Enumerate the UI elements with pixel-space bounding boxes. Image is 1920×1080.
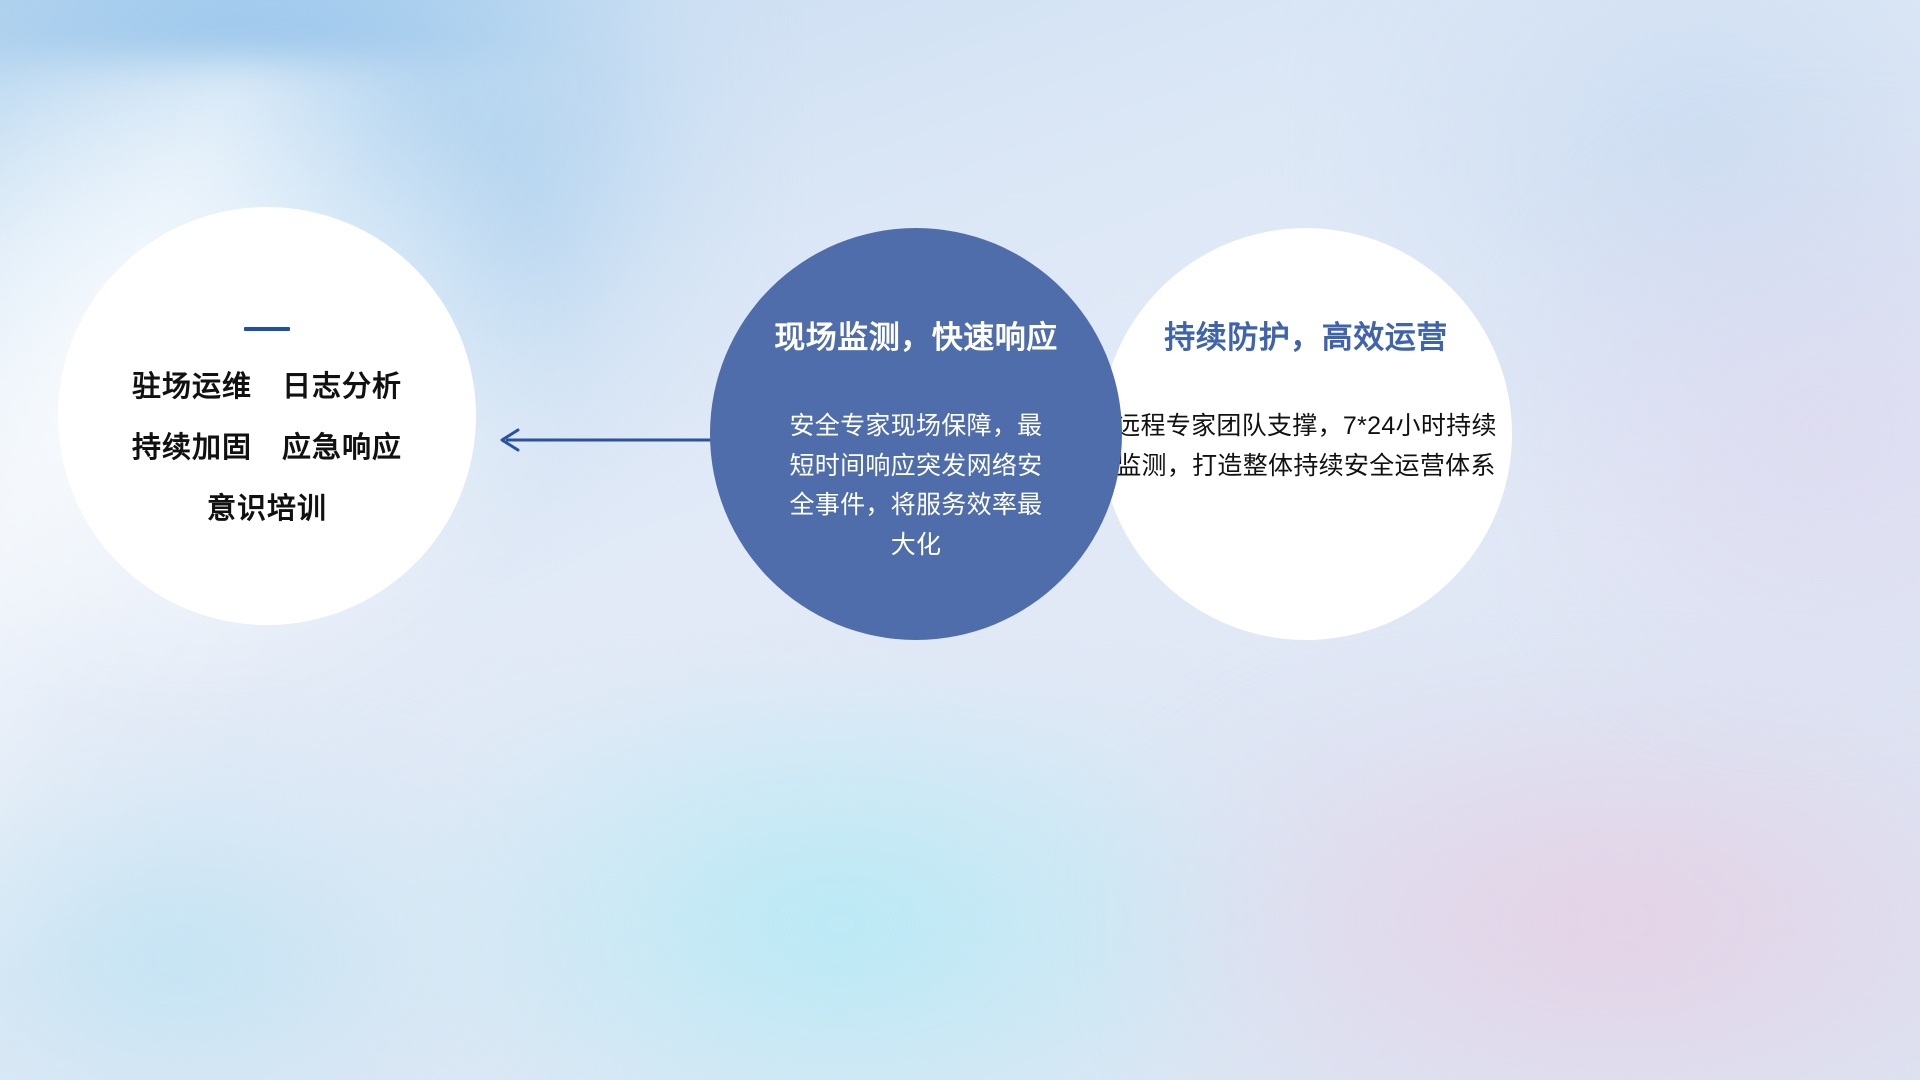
background-glow-cyan-left — [0, 720, 560, 1080]
continuous-protection-circle[interactable]: 持续防护，高效运营 远程专家团队支撑，7*24小时持续监测，打造整体持续安全运营… — [1100, 228, 1512, 640]
continuous-protection-content: 持续防护，高效运营 远程专家团队支撑，7*24小时持续监测，打造整体持续安全运营… — [1100, 228, 1512, 640]
accent-divider — [244, 327, 290, 331]
slide-canvas: 驻场运维 日志分析 持续加固 应急响应 意识培训 现场监测，快速响应 安全专家现… — [0, 0, 1920, 1080]
onsite-monitoring-content: 现场监测，快速响应 安全专家现场保障，最短时间响应突发网络安全事件，将服务效率最… — [710, 228, 1122, 640]
background-glow-lavender — [1500, 120, 1920, 740]
capability-circle-left[interactable]: 驻场运维 日志分析 持续加固 应急响应 意识培训 — [58, 207, 476, 625]
onsite-monitoring-title: 现场监测，快速响应 — [774, 312, 1058, 357]
arrow-left-icon — [490, 418, 720, 462]
onsite-monitoring-circle[interactable]: 现场监测，快速响应 安全专家现场保障，最短时间响应突发网络安全事件，将服务效率最… — [710, 228, 1122, 640]
capability-line-1: 驻场运维 日志分析 — [132, 373, 402, 402]
capability-circle-left-content: 驻场运维 日志分析 持续加固 应急响应 意识培训 — [58, 207, 476, 625]
onsite-monitoring-body: 安全专家现场保障，最短时间响应突发网络安全事件，将服务效率最大化 — [782, 407, 1050, 565]
continuous-protection-body: 远程专家团队支撑，7*24小时持续监测，打造整体持续安全运营体系 — [1106, 407, 1506, 486]
capability-line-2: 持续加固 应急响应 — [132, 434, 402, 463]
capability-line-3: 意识培训 — [207, 495, 327, 524]
continuous-protection-title: 持续防护，高效运营 — [1164, 312, 1448, 357]
